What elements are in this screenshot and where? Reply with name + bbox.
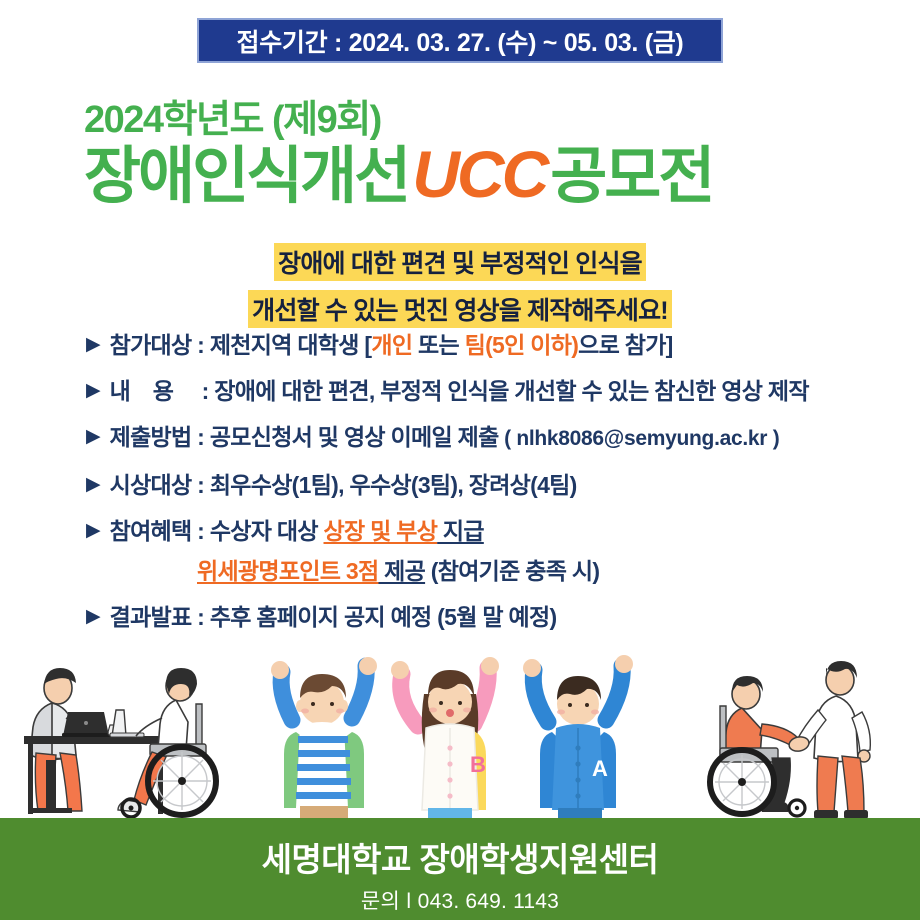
info-row-part: 팀(5인 이하) — [465, 332, 579, 358]
triangle-bullet-icon: ▶ — [86, 376, 101, 406]
info-row: ▶제출방법 : 공모신청서 및 영상 이메일 제출 ( nlhk8086@sem… — [86, 422, 886, 454]
title-main-line: 장애인식개선UCC공모전 — [84, 140, 712, 209]
info-row-part: 장애에 대한 편견, 부정적 인식을 개선할 수 있는 참신한 영상 제작 — [214, 378, 809, 404]
title-segment-green-2: 공모전 — [550, 142, 712, 211]
info-row-separator: : — [191, 518, 209, 544]
badge-letter-b: B — [470, 752, 486, 777]
info-row-part: 지급 — [437, 518, 484, 544]
triangle-bullet-icon: ▶ — [86, 516, 101, 546]
info-row-text: 참여혜택 : 수상자 대상 상장 및 부상 지급 — [110, 516, 484, 546]
info-row-part: 공모신청서 및 영상 이메일 제출 — [210, 424, 499, 450]
subtitle-line-1: 장애에 대한 편견 및 부정적인 인식을 — [274, 243, 646, 281]
info-list: ▶참가대상 : 제천지역 대학생 [개인 또는 팀(5인 이하)으로 참가]▶내… — [86, 330, 886, 694]
info-row-text: 내용 : 장애에 대한 편견, 부정적 인식을 개선할 수 있는 참신한 영상 … — [110, 376, 809, 406]
illustration-strip: B — [0, 648, 920, 830]
info-row-part: 상장 및 부상 — [324, 518, 438, 544]
info-row-part: 수상자 대상 — [210, 518, 324, 544]
info-row-text: 시상대상 : 최우수상(1팀), 우수상(3팀), 장려상(4팀) — [110, 470, 577, 500]
info-row-part: 또는 — [412, 332, 464, 358]
info-row: ▶참여혜택 : 수상자 대상 상장 및 부상 지급 — [86, 516, 886, 546]
left-scene-desk-group — [24, 668, 216, 817]
center-scene-cheering-group: B — [271, 655, 633, 822]
info-row: 위세광명포인트 3점 제공 (참여기준 충족 시) — [197, 556, 886, 586]
info-row-part: 제공 — [378, 558, 425, 584]
submission-email[interactable]: ( nlhk8086@semyung.ac.kr ) — [499, 427, 780, 450]
info-row-label: 시상대상 — [110, 472, 192, 498]
info-row-separator: : — [196, 378, 214, 404]
footer-bar: 세명대학교 장애학생지원센터 문의 ǀ 043. 649. 1143 — [0, 828, 920, 920]
info-row-label: 결과발표 — [110, 604, 192, 630]
info-row: ▶시상대상 : 최우수상(1팀), 우수상(3팀), 장려상(4팀) — [86, 470, 886, 500]
info-row-part: 위세광명포인트 3점 — [197, 558, 378, 584]
info-row-label: 내용 — [110, 378, 196, 404]
info-row-text: 참가대상 : 제천지역 대학생 [개인 또는 팀(5인 이하)으로 참가] — [110, 330, 673, 360]
info-row-part: 최우수상(1팀), 우수상(3팀), 장려상(4팀) — [210, 472, 577, 498]
info-row-label: 참여혜택 — [110, 518, 192, 544]
info-row-part: 제천지역 대학생 [ — [210, 332, 372, 358]
footer-organization: 세명대학교 장애학생지원센터 — [262, 833, 659, 881]
info-row-separator: : — [191, 604, 209, 630]
info-row-part: 으로 참가] — [578, 332, 673, 358]
info-row-label: 참가대상 — [110, 332, 192, 358]
info-row-text: 위세광명포인트 3점 제공 (참여기준 충족 시) — [197, 556, 599, 586]
info-row: ▶결과발표 : 추후 홈페이지 공지 예정 (5월 말 예정) — [86, 602, 886, 632]
application-period-banner: 접수기간 : 2024. 03. 27. (수) ~ 05. 03. (금) — [197, 18, 723, 63]
info-row-separator: : — [191, 332, 209, 358]
info-row: ▶내용 : 장애에 대한 편견, 부정적 인식을 개선할 수 있는 참신한 영상… — [86, 376, 886, 406]
title-year-line: 2024학년도 (제9회) — [84, 88, 381, 143]
info-row-separator: : — [191, 472, 209, 498]
info-row-label: 제출방법 — [110, 424, 192, 450]
info-row-part: (참여기준 충족 시) — [425, 558, 599, 584]
footer-contact: 문의 ǀ 043. 649. 1143 — [361, 885, 559, 915]
poster-root: 접수기간 : 2024. 03. 27. (수) ~ 05. 03. (금) 2… — [0, 0, 920, 920]
title-segment-green-1: 장애인식개선 — [84, 142, 408, 211]
triangle-bullet-icon: ▶ — [86, 470, 101, 500]
info-row-part: 개인 — [371, 332, 412, 358]
info-row: ▶참가대상 : 제천지역 대학생 [개인 또는 팀(5인 이하)으로 참가] — [86, 330, 886, 360]
title-segment-ucc: UCC — [408, 137, 550, 211]
info-row-part: 추후 홈페이지 공지 예정 (5월 말 예정) — [210, 604, 557, 630]
info-row-text: 제출방법 : 공모신청서 및 영상 이메일 제출 ( nlhk8086@semy… — [110, 422, 780, 454]
badge-letter-a: A — [592, 756, 608, 781]
illustration-svg: B — [0, 648, 920, 830]
triangle-bullet-icon: ▶ — [86, 330, 101, 360]
subtitle-line-2: 개선할 수 있는 멋진 영상을 제작해주세요! — [248, 290, 672, 328]
subtitle-block: 장애에 대한 편견 및 부정적인 인식을 개선할 수 있는 멋진 영상을 제작해… — [0, 243, 920, 337]
triangle-bullet-icon: ▶ — [86, 602, 101, 632]
info-row-text: 결과발표 : 추후 홈페이지 공지 예정 (5월 말 예정) — [110, 602, 557, 632]
triangle-bullet-icon: ▶ — [86, 422, 101, 452]
info-row-separator: : — [191, 424, 209, 450]
application-period-text: 접수기간 : 2024. 03. 27. (수) ~ 05. 03. (금) — [237, 23, 684, 59]
right-scene-handshake-group — [710, 661, 870, 819]
